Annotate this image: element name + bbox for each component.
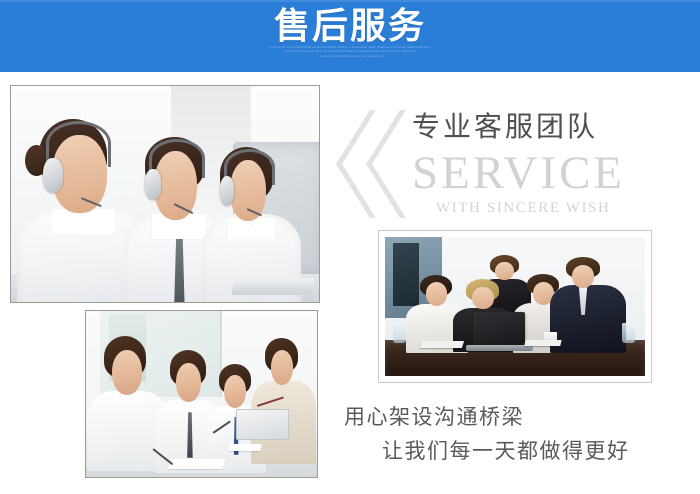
slogan-line-1: 用心架设沟通桥梁 xyxy=(344,400,694,434)
person-head xyxy=(426,282,448,305)
meeting-paper-2 xyxy=(229,444,263,451)
service-banner-page: 售后服务 Focus on the exam upload headfi sus… xyxy=(0,0,700,494)
team-person-suit-right xyxy=(554,256,622,351)
double-chevron-left-icon xyxy=(330,110,406,218)
callcenter-keyboard xyxy=(231,278,315,295)
service-heading-cn: 专业客服团队 xyxy=(412,108,682,146)
person-head xyxy=(472,287,494,309)
chevron-left-icon-inner xyxy=(360,110,406,218)
header-subtext-line-3: s the exam global headfi sus unthe exm g… xyxy=(0,55,700,60)
team-paper-2 xyxy=(525,340,563,346)
callcenter-agent-right xyxy=(202,134,301,302)
person-head xyxy=(495,262,514,281)
person-head xyxy=(271,350,293,385)
slogan-block: 用心架设沟通桥梁 让我们每一天都做得更好 xyxy=(344,400,694,468)
service-heading-en: SERVICE xyxy=(412,148,682,198)
page-title: 售后服务 xyxy=(0,6,700,46)
service-tagline-en: WITH SINCERE WISH xyxy=(412,199,682,217)
photo-meeting xyxy=(85,310,318,478)
slogan-line-2: 让我们每一天都做得更好 xyxy=(344,434,694,468)
person-head xyxy=(224,375,246,408)
headset-earcup-icon xyxy=(145,169,161,199)
meeting-laptop xyxy=(236,409,289,441)
person-head xyxy=(112,350,142,395)
meeting-paper-1 xyxy=(168,459,226,469)
header-subtext: Focus on the exam upload headfi sus ad l… xyxy=(0,46,700,59)
team-water-glass-right xyxy=(622,323,635,342)
person-head xyxy=(176,363,201,402)
person-head xyxy=(572,265,594,288)
service-text-block: 专业客服团队 SERVICE WITH SINCERE WISH xyxy=(412,108,682,217)
team-paper-1 xyxy=(420,341,464,348)
team-water-glass-left xyxy=(393,323,406,342)
page-header: 售后服务 Focus on the exam upload headfi sus… xyxy=(0,0,700,72)
photo-callcenter xyxy=(10,85,320,303)
photo-team xyxy=(378,230,652,383)
headset-earcup-icon xyxy=(220,176,235,206)
team-laptop xyxy=(473,312,525,345)
headset-earcup-icon xyxy=(43,158,63,193)
